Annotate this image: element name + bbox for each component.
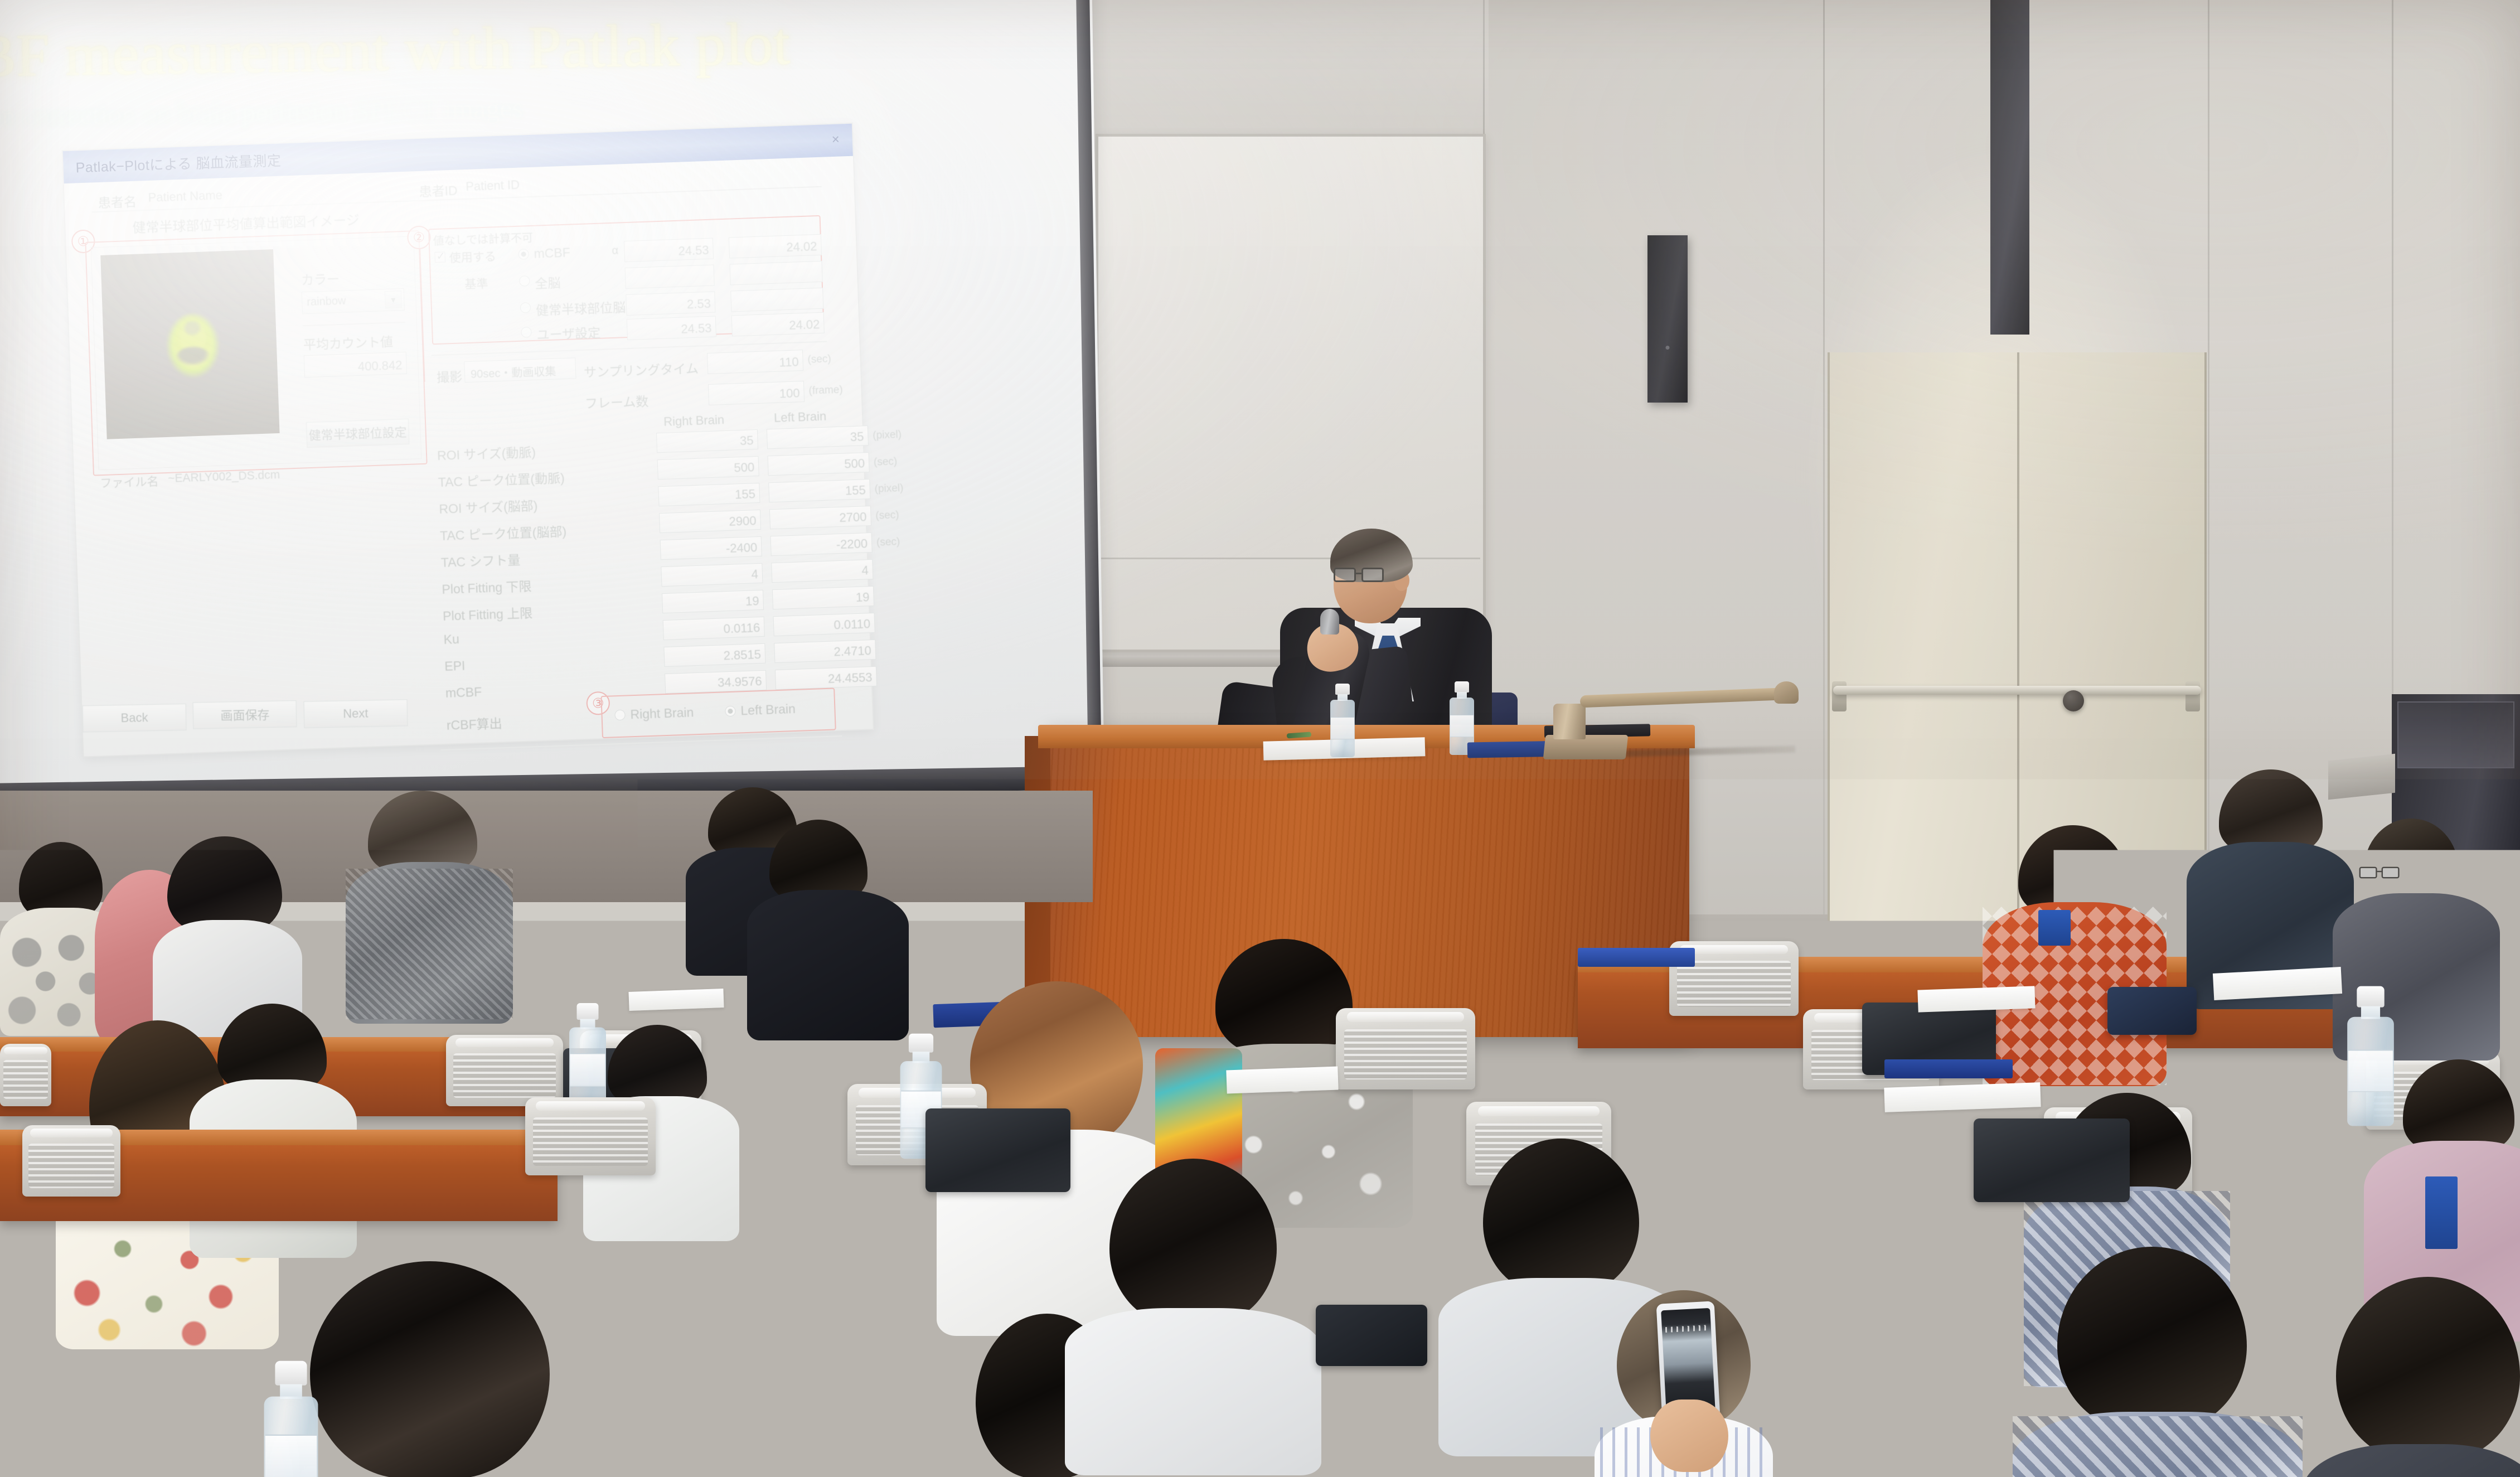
glasses-icon (2359, 867, 2402, 879)
divider (303, 322, 405, 326)
roi-panel-group: カラー rainbow ▼ 平均カウント値 400.842 健常半球部位設定 (91, 236, 422, 470)
roi-section-heading: 健常半球部位平均値算出範図イメージ (132, 209, 360, 236)
results-left-value: 24.4553 (828, 670, 873, 686)
results-left-field[interactable]: 2.4710 (774, 640, 876, 663)
sampling-time-value: 110 (779, 355, 799, 370)
next-button[interactable]: Next (303, 699, 408, 728)
results-right-value: 4 (751, 567, 758, 582)
results-right-field[interactable]: 155 (658, 483, 760, 506)
results-left-field[interactable]: 19 (772, 586, 874, 609)
results-left-field[interactable]: 24.4553 (775, 666, 877, 690)
color-label: カラー (301, 268, 340, 288)
equipment-cabinet-panel (2397, 701, 2514, 768)
results-row-label: ROI サイズ(脳部) (439, 495, 538, 517)
results-row-label: Plot Fitting 下限 (442, 575, 532, 598)
user-setting-right-value: 24.53 (681, 321, 712, 337)
microphone-stand-head (1774, 681, 1799, 704)
blue-folder (1884, 1059, 2013, 1078)
microphone-icon (1320, 609, 1339, 635)
results-left-field[interactable]: -2200 (770, 532, 873, 556)
plaid-pattern (2013, 1416, 2303, 1477)
results-left-value: 155 (845, 483, 866, 498)
paper-sheet (628, 989, 724, 1011)
results-left-field[interactable]: 4 (771, 559, 873, 583)
results-left-value: 0.0110 (833, 617, 871, 632)
projection-screen: BF measurement with Patlak plot ssen cor… (0, 0, 1104, 815)
chair[interactable] (525, 1097, 656, 1175)
results-left-value: 500 (844, 456, 865, 471)
chair[interactable] (22, 1125, 120, 1197)
sampling-time-unit: (sec) (807, 353, 831, 366)
color-select-value: rainbow (307, 295, 346, 309)
results-row-label: ROI サイズ(動脈) (437, 442, 536, 464)
results-left-field[interactable]: 500 (768, 452, 870, 476)
backpack (2107, 987, 2197, 1035)
patient-name-value: Patient Name (148, 188, 222, 205)
brain-overlay-blob (161, 308, 225, 380)
laptop-bag (925, 1108, 1070, 1192)
results-col-header-right: Right Brain (663, 413, 725, 429)
radio-normal-hemisphere-label: 健常半球部位脳 (535, 297, 626, 319)
results-right-field[interactable]: -2400 (660, 536, 762, 560)
frame-count-field[interactable]: 100 (708, 381, 805, 405)
results-right-value: 2.8515 (723, 647, 761, 663)
results-left-field[interactable]: 2700 (769, 506, 871, 529)
chair[interactable] (859, 1377, 992, 1477)
results-right-field[interactable]: 2900 (659, 510, 761, 533)
results-row-label: TAC ピーク位置(動脈) (438, 467, 565, 491)
whole-brain-right-field[interactable] (625, 265, 715, 289)
results-left-field[interactable]: 0.0110 (773, 613, 875, 636)
chair[interactable] (446, 1035, 563, 1106)
results-left-value: 2.4710 (833, 643, 871, 659)
normal-hemisphere-right-value: 2.53 (687, 297, 711, 312)
glasses-icon (1334, 568, 1387, 582)
radio-mcbf-label: mCBF (534, 245, 570, 261)
chair[interactable] (0, 1044, 51, 1106)
user-setting-left-value: 24.02 (789, 317, 820, 333)
results-right-field[interactable]: 0.0116 (663, 617, 765, 640)
sampling-time-field[interactable]: 110 (707, 350, 803, 374)
mean-count-label: 平均カウント値 (303, 331, 393, 353)
acquisition-mode-field[interactable]: 90sec・動画収集 (464, 357, 576, 382)
results-left-value: 2700 (839, 510, 867, 525)
results-right-field[interactable]: 500 (657, 456, 759, 480)
projected-dialog: Patlak−Plotによる 脳血流量測定 × 患者名 Patient Name… (62, 123, 874, 758)
paper-sheet (1427, 1273, 1572, 1304)
results-right-field[interactable]: 19 (662, 590, 764, 613)
whole-brain-left-field[interactable] (729, 261, 822, 285)
wall-speaker (1647, 235, 1688, 403)
mcbf-right-field[interactable]: 24.53 (624, 238, 714, 263)
results-right-field[interactable]: 35 (656, 429, 758, 453)
paper-sheet (1226, 1067, 1338, 1094)
results-left-value: -2200 (836, 536, 868, 552)
patient-id-label: 患者ID (419, 180, 458, 200)
results-row-label: TAC シフト量 (440, 549, 521, 571)
results-unit: (sec) (875, 509, 899, 522)
chair[interactable] (1684, 1134, 1818, 1212)
color-select[interactable]: rainbow ▼ (302, 288, 405, 314)
results-left-field[interactable]: 155 (768, 479, 870, 502)
divider (441, 735, 842, 750)
results-right-field[interactable]: 4 (661, 563, 763, 587)
user-setting-right-field[interactable]: 24.53 (627, 316, 716, 340)
results-unit: (sec) (876, 536, 900, 549)
water-bottle (264, 1361, 318, 1477)
water-bottle (1330, 684, 1355, 757)
results-row-label: TAC ピーク位置(脳部) (439, 521, 566, 544)
results-row-label: EPI (444, 658, 466, 674)
frame-count-unit: (frame) (808, 384, 843, 398)
door-push-bar[interactable] (1833, 686, 2201, 695)
lanyard (2038, 910, 2071, 946)
water-bottle (2347, 986, 2394, 1126)
mcbf-right-value: 24.53 (678, 243, 709, 259)
sampling-time-label: サンプリングタイム (583, 358, 699, 381)
equipment-tray (2328, 754, 2395, 800)
mean-count-field[interactable]: 400.842 (304, 352, 407, 377)
door-handle[interactable] (2063, 690, 2084, 711)
results-left-value: 4 (861, 563, 869, 578)
slide-title: BF measurement with Patlak plot (0, 14, 791, 87)
frame-count-label: フレーム数 (584, 391, 648, 412)
results-right-value: 19 (745, 594, 759, 609)
results-right-value: 500 (734, 460, 755, 475)
patient-id-value: Patient ID (466, 178, 520, 194)
patient-name-label: 患者名 (98, 191, 137, 211)
blue-folder (1578, 948, 1695, 967)
user-setting-left-field[interactable]: 24.02 (731, 312, 825, 337)
microphone-stand-neck (1553, 704, 1586, 739)
mcbf-left-value: 24.02 (786, 239, 817, 255)
set-normal-hemisphere-button[interactable]: 健常半球部位設定 (306, 419, 409, 448)
hand-holding-phone (1650, 1399, 1728, 1472)
results-unit: (pixel) (874, 482, 903, 496)
plaid-pattern (346, 869, 513, 1019)
lanyard (2425, 1176, 2458, 1249)
mcbf-left-field[interactable]: 24.02 (729, 234, 822, 259)
results-left-value: 19 (856, 590, 870, 605)
backpack (1974, 1118, 2130, 1202)
normal-hemisphere-right-field[interactable]: 2.53 (626, 292, 715, 316)
rcbf-label: rCBF算出 (446, 713, 502, 733)
results-col-header-left: Left Brain (774, 409, 827, 425)
acquisition-mode-value: 90sec・動画収集 (471, 362, 556, 381)
mean-count-value: 400.842 (358, 358, 403, 374)
door-center-seam (2017, 352, 2019, 960)
whiteboard-edge-line (1101, 558, 1480, 559)
results-right-value: 0.0116 (723, 621, 760, 636)
results-right-value: 155 (735, 487, 756, 502)
frame-count-value: 100 (779, 386, 800, 401)
dialog-title-text: Patlak−Plotによる 脳血流量測定 (75, 150, 282, 177)
results-right-field[interactable]: 2.8515 (663, 643, 765, 667)
results-unit: (sec) (874, 456, 898, 468)
camera-bag (1316, 1305, 1427, 1366)
results-right-value: -2400 (726, 540, 758, 556)
close-icon[interactable]: × (824, 128, 847, 151)
back-button[interactable]: Back (83, 704, 187, 733)
chair[interactable] (1336, 1008, 1475, 1089)
paper-sheet (1917, 986, 2035, 1012)
radio-user-setting-label: ユーザ設定 (536, 322, 601, 343)
brain-roi-preview[interactable] (100, 249, 279, 439)
wall-speaker (1990, 0, 2029, 335)
wall-panel (1076, 0, 1489, 134)
results-row-label: Ku (443, 632, 459, 647)
chevron-down-icon[interactable]: ▼ (385, 290, 402, 308)
slide-subtitle: ssen correction on brain perfusion SPECT… (0, 94, 523, 131)
standard-label: 基準 (464, 275, 488, 292)
results-row-label: Plot Fitting 上限 (443, 602, 533, 624)
lecture-hall-photo: BF measurement with Patlak plot ssen cor… (0, 0, 2520, 1477)
whiteboard (1096, 134, 1486, 652)
results-right-value: 2900 (729, 514, 757, 529)
use-correction-checkbox[interactable] (434, 251, 445, 263)
acquisition-label: 撮影 (437, 366, 463, 386)
normal-hemisphere-left-field[interactable] (730, 288, 823, 312)
results-right-value: 34.9576 (718, 674, 762, 690)
radio-whole-brain-label: 全脳 (535, 272, 561, 292)
radio-rcbf-left-brain-label: Left Brain (740, 701, 796, 718)
file-name-label: ファイル名 (100, 473, 159, 492)
results-left-field[interactable]: 35 (767, 425, 869, 449)
results-right-value: 35 (740, 433, 754, 448)
monitor-slide-title: BF measurement with Patlak plot (595, 1285, 857, 1316)
results-row-label: mCBF (445, 685, 482, 701)
alpha-symbol: α (612, 245, 618, 258)
use-correction-label: 使用する (449, 248, 496, 266)
results-unit: (pixel) (873, 429, 902, 442)
dialog-body: 患者名 Patient Name 患者ID Patient ID 健常半球部位平… (64, 156, 873, 757)
annotation-marker-2: ② (407, 225, 431, 249)
results-left-value: 35 (850, 429, 864, 444)
save-screen-button[interactable]: 画面保存 (193, 700, 297, 729)
